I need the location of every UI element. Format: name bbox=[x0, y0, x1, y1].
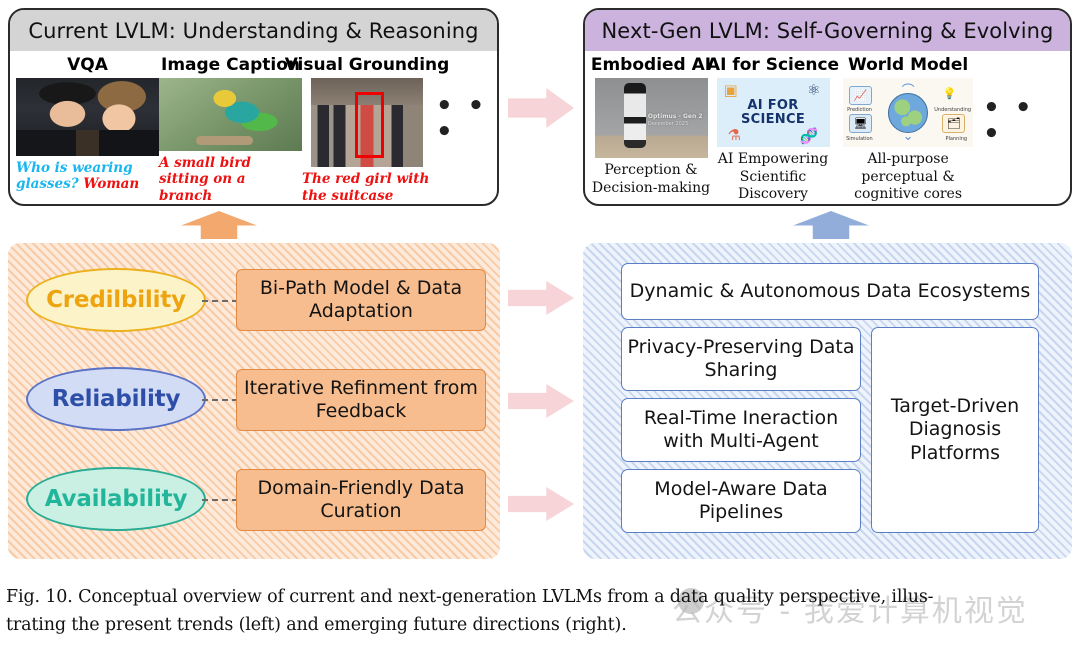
trends-panel: Credilbility Bi-Path Model & Data Adapta… bbox=[8, 243, 500, 559]
robot-overlay-caption: Optimus - Gen 2 December 2023 bbox=[648, 113, 703, 128]
solution-bi-path-model[interactable]: Bi-Path Model & Data Adaptation bbox=[236, 269, 486, 331]
street-scene-photo bbox=[311, 78, 423, 167]
arrow-availability-to-future bbox=[508, 487, 574, 521]
pillar-credibility: Credilbility bbox=[26, 268, 206, 332]
solution-domain-friendly-curation[interactable]: Domain-Friendly Data Curation bbox=[236, 469, 486, 531]
task-image-caption: Image Caption A small bird sitting on a … bbox=[159, 55, 302, 204]
figure-caption-line-2: trating the present trends (left) and em… bbox=[6, 611, 1074, 639]
task-vqa-title: VQA bbox=[67, 55, 108, 75]
chip-icon: ▣ bbox=[724, 83, 738, 98]
task-vqa: VQA Who is wearing glasses? Woman bbox=[16, 55, 159, 204]
bird-on-branch-photo bbox=[159, 78, 302, 151]
vqa-couple-photo bbox=[16, 78, 159, 156]
arrow-future-to-nextgen bbox=[793, 211, 869, 239]
future-real-time-interaction-multi-agent[interactable]: Real-Time Ineraction with Multi-Agent bbox=[621, 398, 861, 462]
nextgen-lvlm-panel: Next-Gen LVLM: Self-Governing & Evolving… bbox=[583, 8, 1072, 206]
embodied-ai-caption: Perception & Decision-making bbox=[591, 162, 711, 197]
pillar-reliability-label: Reliability bbox=[52, 386, 181, 412]
future-target-driven-diagnosis-platforms-label: Target-Driven Diagnosis Platforms bbox=[872, 395, 1038, 465]
future-dynamic-autonomous-data-ecosystems[interactable]: Dynamic & Autonomous Data Ecosystems bbox=[621, 263, 1039, 320]
task-embodied-ai: Embodied AI Optimus - Gen 2 December 202… bbox=[591, 55, 711, 204]
task-embodied-ai-title: Embodied AI bbox=[591, 55, 711, 75]
future-dynamic-autonomous-data-ecosystems-label: Dynamic & Autonomous Data Ecosystems bbox=[630, 280, 1031, 303]
humanoid-robot-photo: Optimus - Gen 2 December 2023 bbox=[595, 78, 708, 158]
task-image-caption-title: Image Caption bbox=[161, 55, 300, 75]
future-real-time-interaction-multi-agent-label: Real-Time Ineraction with Multi-Agent bbox=[622, 407, 860, 453]
task-visual-grounding-title: Visual Grounding bbox=[285, 55, 450, 75]
task-ai-for-science-title: AI for Science bbox=[707, 55, 839, 75]
prediction-chart-icon: 📈 bbox=[849, 86, 872, 105]
task-world-model-title: World Model bbox=[848, 55, 968, 75]
pillar-credibility-label: Credilbility bbox=[46, 287, 186, 313]
robot-overlay-title: Optimus - Gen 2 bbox=[648, 113, 703, 120]
solution-iterative-refinement[interactable]: Iterative Refinment from Feedback bbox=[236, 369, 486, 431]
current-panel-ellipsis: • • • bbox=[436, 93, 491, 145]
pillar-reliability: Reliability bbox=[26, 367, 206, 431]
figure-caption: Fig. 10. Conceptual overview of current … bbox=[6, 583, 1074, 640]
figure-caption-line-1: Fig. 10. Conceptual overview of current … bbox=[6, 583, 1074, 611]
future-model-aware-data-pipelines[interactable]: Model-Aware Data Pipelines bbox=[621, 469, 861, 533]
world-model-caption: All-purpose perceptual & cognitive cores bbox=[835, 151, 981, 204]
solution-domain-friendly-curation-label: Domain-Friendly Data Curation bbox=[237, 477, 485, 523]
task-ai-for-science: AI for Science ▣ ⚛ ⚗ 🧬 AI FOR SCIENCE AI… bbox=[711, 55, 835, 204]
arrow-credibility-to-future bbox=[508, 281, 574, 315]
future-model-aware-data-pipelines-label: Model-Aware Data Pipelines bbox=[622, 478, 860, 524]
current-lvlm-body: VQA Who is wearing glasses? Woman Image … bbox=[10, 51, 497, 204]
grounding-bounding-box bbox=[355, 92, 384, 158]
globe-icon bbox=[888, 93, 928, 133]
arrow-reliability-to-future bbox=[508, 384, 574, 418]
arrow-current-to-nextgen bbox=[508, 88, 574, 128]
image-caption-text: A small bird sitting on a branch bbox=[159, 155, 302, 204]
current-lvlm-panel: Current LVLM: Understanding & Reasoning … bbox=[8, 8, 499, 206]
world-model-label-understanding: Understanding bbox=[934, 107, 971, 113]
vqa-answer: Woman bbox=[83, 176, 139, 192]
lightbulb-icon: 💡 bbox=[938, 84, 961, 103]
nextgen-panel-ellipsis: • • • bbox=[983, 95, 1064, 147]
flask-icon: ⚗ bbox=[728, 128, 741, 143]
simulation-screen-icon: 🖥 bbox=[849, 114, 872, 133]
planning-tree-icon: 🗂 bbox=[942, 114, 965, 133]
ai-for-science-image-text: AI FOR SCIENCE bbox=[717, 99, 830, 126]
vqa-caption: Who is wearing glasses? Woman bbox=[16, 160, 159, 193]
pillar-availability-label: Availability bbox=[45, 486, 187, 512]
task-world-model: World Model ⌒ ⌄ 📈 💡 🖥 🗂 Prediction Under… bbox=[835, 55, 981, 204]
task-visual-grounding: Visual Grounding The red girl with the s… bbox=[302, 55, 432, 204]
world-model-label-planning: Planning bbox=[946, 136, 968, 142]
ai-for-science-caption: AI Empowering Scientific Discovery bbox=[711, 151, 835, 204]
atom-icon: ⚛ bbox=[807, 83, 820, 98]
arrow-trends-to-current bbox=[181, 211, 257, 239]
dna-icon: 🧬 bbox=[800, 129, 819, 144]
ai-for-science-illustration: ▣ ⚛ ⚗ 🧬 AI FOR SCIENCE bbox=[717, 78, 830, 147]
robot-overlay-subtitle: December 2023 bbox=[648, 121, 703, 128]
pillar-availability: Availability bbox=[26, 467, 206, 531]
future-target-driven-diagnosis-platforms[interactable]: Target-Driven Diagnosis Platforms bbox=[871, 327, 1039, 533]
world-model-cycle-illustration: ⌒ ⌄ 📈 💡 🖥 🗂 Prediction Understanding Sim… bbox=[843, 78, 973, 147]
future-privacy-preserving-data-sharing-label: Privacy-Preserving Data Sharing bbox=[622, 336, 860, 382]
nextgen-lvlm-body: Embodied AI Optimus - Gen 2 December 202… bbox=[585, 51, 1070, 204]
nextgen-lvlm-title: Next-Gen LVLM: Self-Governing & Evolving bbox=[585, 10, 1070, 51]
future-privacy-preserving-data-sharing[interactable]: Privacy-Preserving Data Sharing bbox=[621, 327, 861, 391]
visual-grounding-caption: The red girl with the suitcase bbox=[302, 171, 432, 204]
future-panel: Dynamic & Autonomous Data Ecosystems Pri… bbox=[583, 243, 1072, 559]
current-lvlm-title: Current LVLM: Understanding & Reasoning bbox=[10, 10, 497, 51]
solution-bi-path-model-label: Bi-Path Model & Data Adaptation bbox=[237, 277, 485, 323]
world-model-label-simulation: Simulation bbox=[846, 136, 873, 142]
world-model-label-prediction: Prediction bbox=[847, 107, 872, 113]
solution-iterative-refinement-label: Iterative Refinment from Feedback bbox=[237, 377, 485, 423]
